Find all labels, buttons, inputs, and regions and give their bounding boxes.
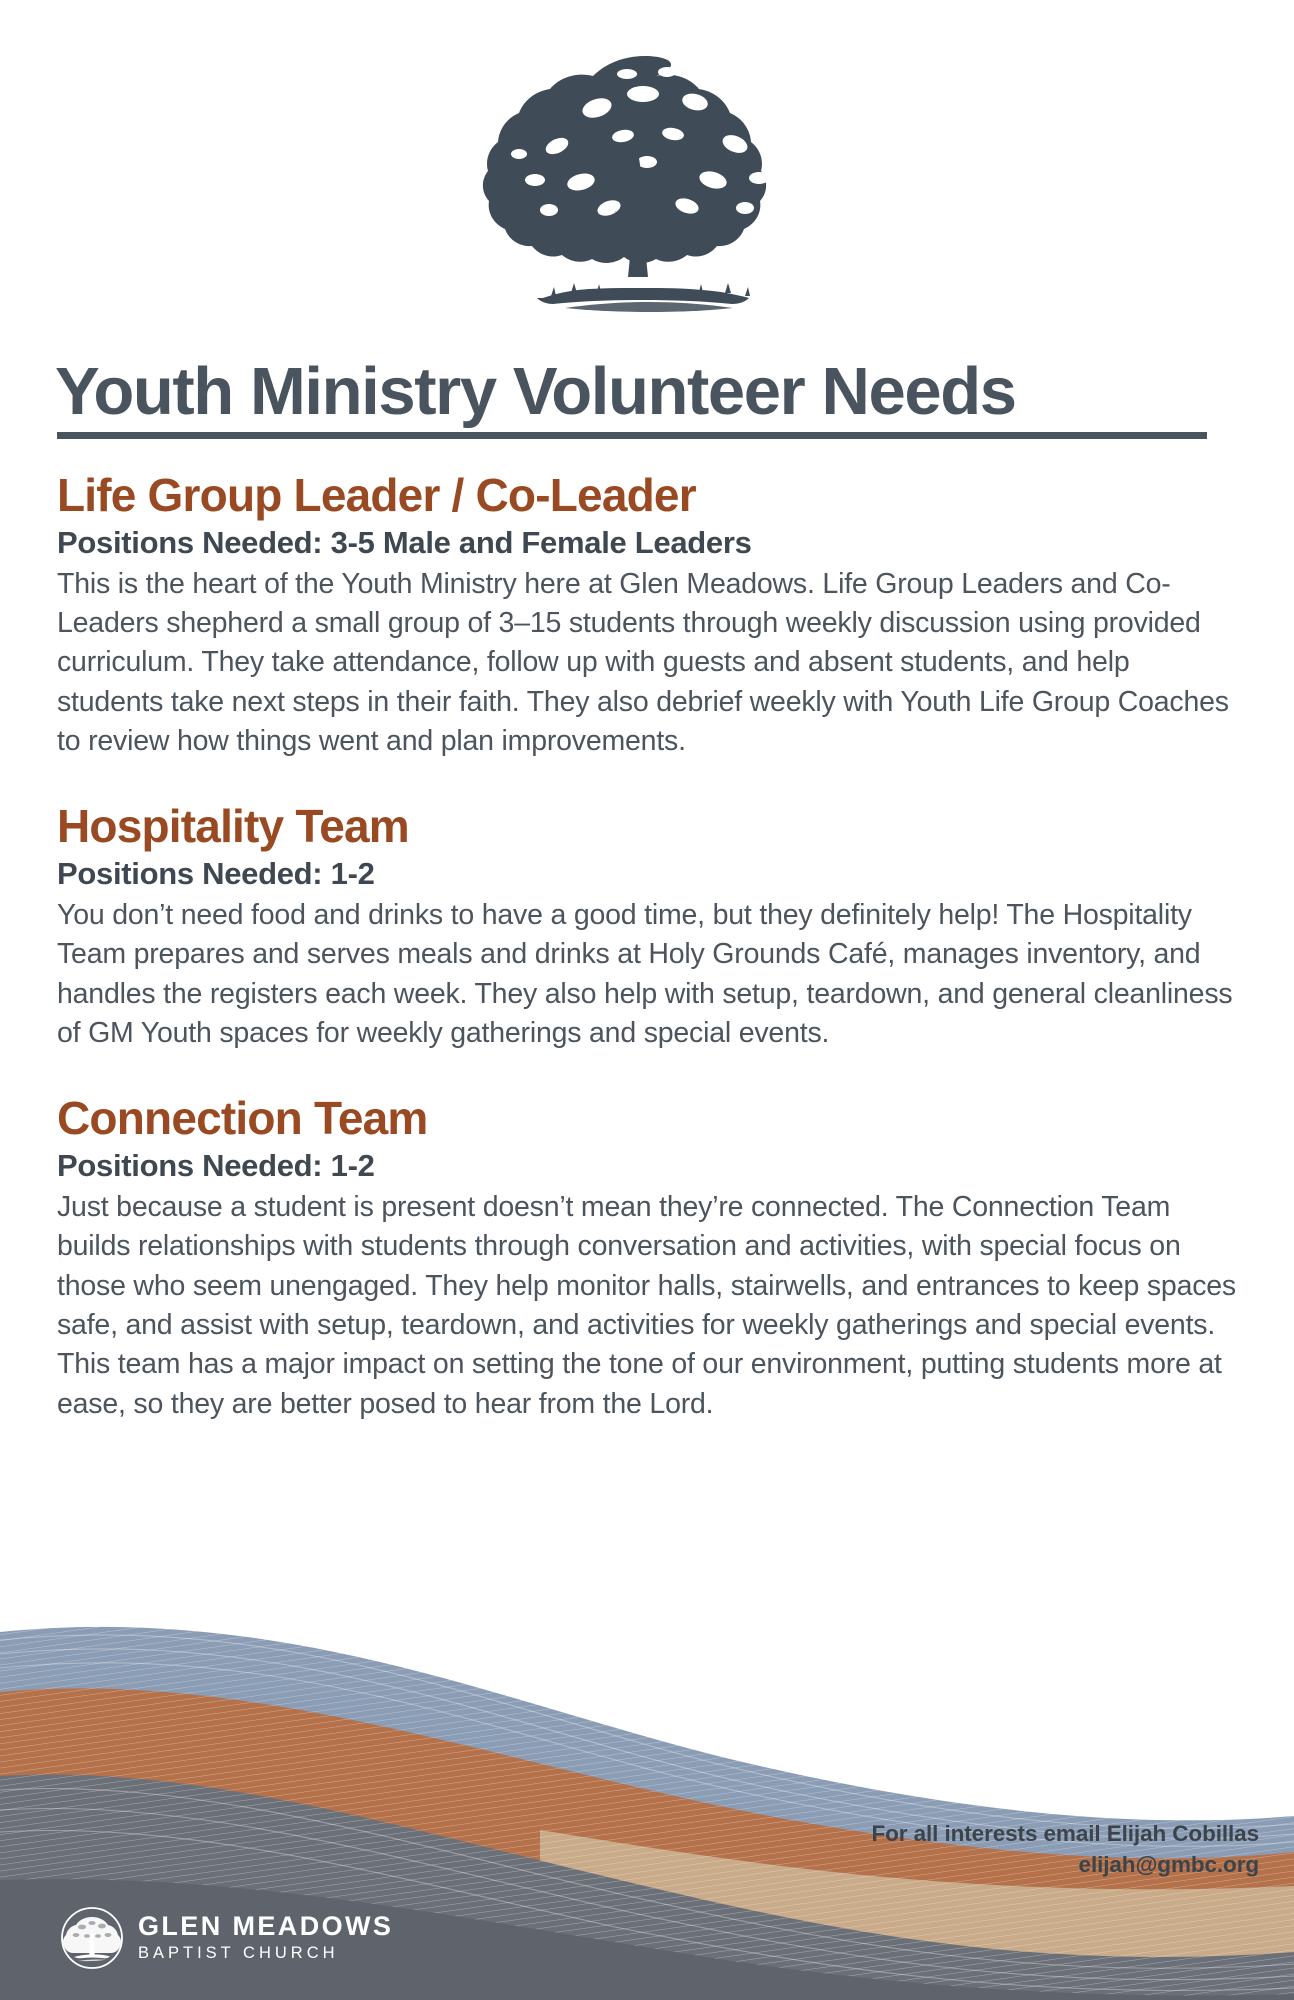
church-logo-lockup: GLEN MEADOWS BAPTIST CHURCH (60, 1906, 393, 1970)
poster-canvas: Youth Ministry Volunteer Needs Life Grou… (0, 0, 1294, 2000)
section-heading: Connection Team (57, 1093, 1242, 1145)
tree-circle-logo-icon (60, 1906, 124, 1970)
logo-church-subtitle: BAPTIST CHURCH (138, 1944, 393, 1964)
section-connection-team: Connection Team Positions Needed: 1-2 Ju… (57, 1093, 1242, 1424)
section-body: Just because a student is present doesn’… (57, 1188, 1242, 1424)
oak-tree-illustration (0, 30, 1294, 350)
page-title: Youth Ministry Volunteer Needs (55, 358, 1245, 426)
positions-needed-line: Positions Needed: 1-2 (57, 1147, 1242, 1184)
positions-needed-line: Positions Needed: 3-5 Male and Female Le… (57, 524, 1242, 561)
section-heading: Hospitality Team (57, 801, 1242, 853)
contact-block: For all interests email Elijah Cobillas … (872, 1818, 1259, 1880)
section-body: This is the heart of the Youth Ministry … (57, 565, 1242, 762)
positions-needed-line: Positions Needed: 1-2 (57, 855, 1242, 892)
sections-container: Life Group Leader / Co-Leader Positions … (57, 470, 1242, 1438)
logo-wordmark: GLEN MEADOWS BAPTIST CHURCH (138, 1912, 393, 1963)
oak-tree-icon (483, 56, 783, 312)
section-life-group-leader: Life Group Leader / Co-Leader Positions … (57, 470, 1242, 761)
section-spacer (57, 1067, 1242, 1093)
section-heading: Life Group Leader / Co-Leader (57, 470, 1242, 522)
title-underline (57, 432, 1207, 439)
logo-church-name: GLEN MEADOWS (138, 1912, 393, 1940)
contact-line: For all interests email Elijah Cobillas (872, 1818, 1259, 1849)
section-hospitality-team: Hospitality Team Positions Needed: 1-2 Y… (57, 801, 1242, 1053)
section-body: You don’t need food and drinks to have a… (57, 896, 1242, 1053)
section-spacer (57, 775, 1242, 801)
contact-email[interactable]: elijah@gmbc.org (872, 1849, 1259, 1880)
